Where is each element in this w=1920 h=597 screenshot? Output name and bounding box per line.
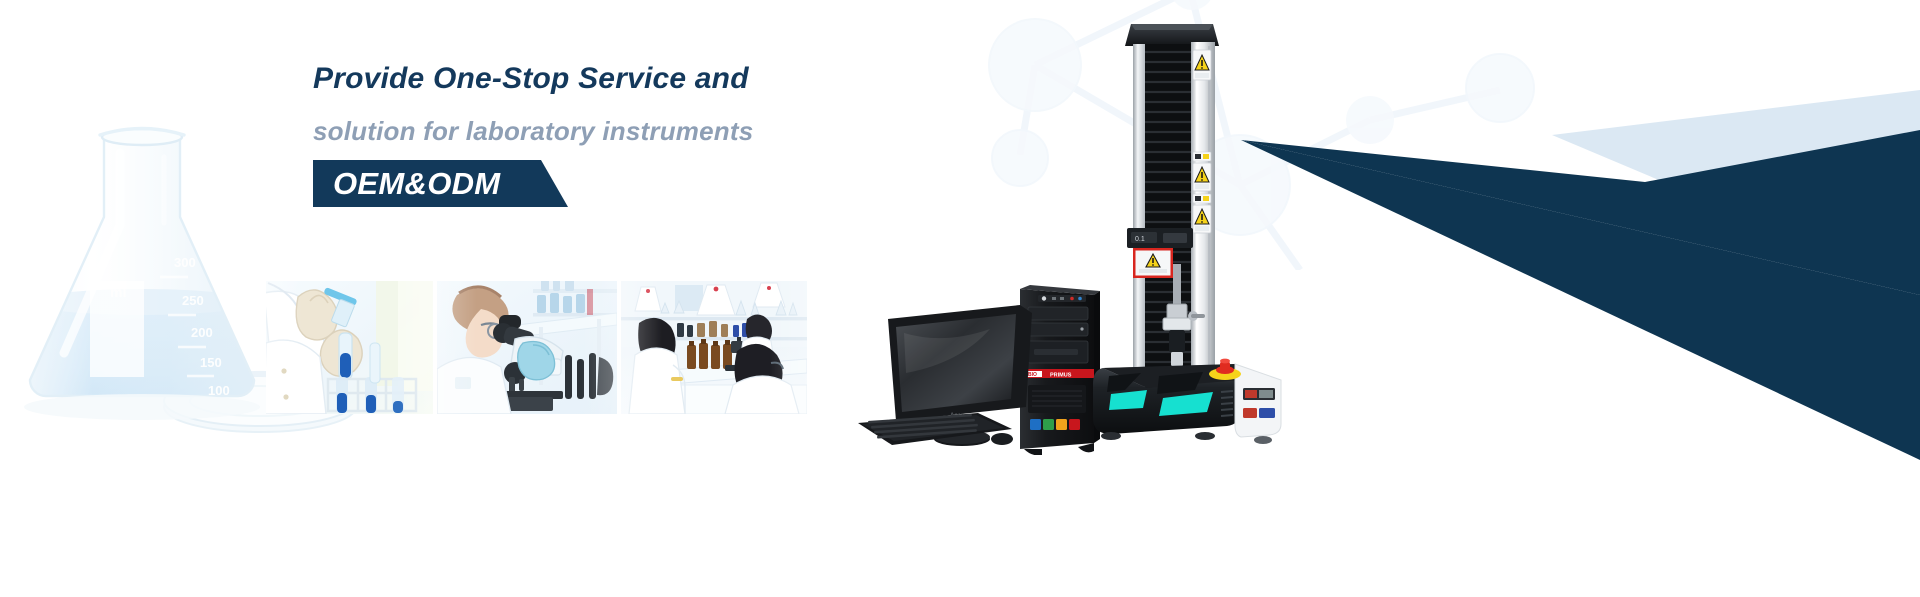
svg-text:150: 150 <box>200 355 222 370</box>
svg-text:BIO: BIO <box>1028 372 1037 378</box>
machine-base <box>1093 359 1281 444</box>
flask-body <box>12 129 272 422</box>
svg-text:250: 250 <box>182 293 204 308</box>
svg-text:PRIMUS: PRIMUS <box>1050 373 1072 379</box>
svg-text:0.1: 0.1 <box>1135 236 1145 243</box>
headline-block: Provide One-Stop Service and solution fo… <box>313 58 953 207</box>
photo-strip <box>266 281 807 414</box>
photo-microscope <box>437 281 617 414</box>
photo-lab-team <box>621 281 807 414</box>
oem-odm-badge: OEM&ODM <box>313 160 568 207</box>
desktop-computer: BIO PRIMUS <box>852 283 1102 455</box>
svg-text:100: 100 <box>208 383 230 398</box>
svg-text:300: 300 <box>174 255 196 270</box>
photo-pipetting <box>266 281 433 414</box>
svg-text:ml: ml <box>110 284 126 300</box>
universal-testing-machine: 0.1 <box>1085 16 1300 456</box>
svg-text:200: 200 <box>191 325 213 340</box>
decorative-arrows <box>1200 0 1920 597</box>
headline-line-2: solution for laboratory instruments <box>313 111 953 151</box>
machine-red-warning-label <box>1133 248 1173 278</box>
machine-left-rail <box>1133 44 1145 406</box>
hero-banner: 300 250 200 150 100 ml Provide One-Stop … <box>0 0 1920 597</box>
headline-line-1: Provide One-Stop Service and <box>313 58 953 100</box>
badge-label: OEM&ODM <box>333 165 500 203</box>
